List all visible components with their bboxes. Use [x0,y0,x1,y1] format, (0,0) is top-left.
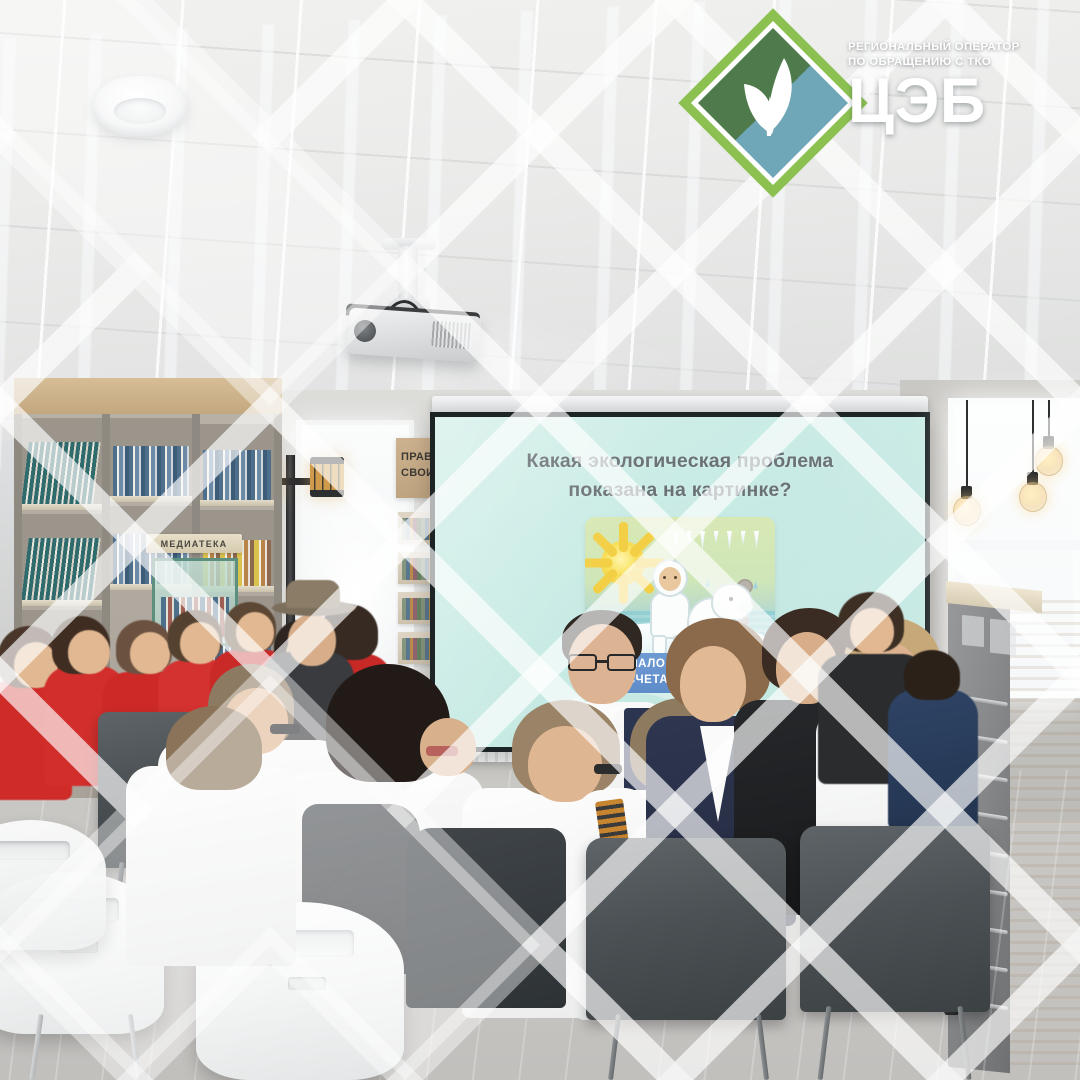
foosball-label [990,619,1016,656]
logo-line1: РЕГИОНАЛЬНЫЙ ОПЕРАТОР [848,40,1056,55]
head [236,612,274,652]
sun-ray [591,531,619,559]
icicle [700,531,705,551]
head [288,614,336,666]
bookcase-shelf [200,500,274,506]
logo-text-block: РЕГИОНАЛЬНЫЙ ОПЕРАТОР ПО ОБРАЩЕНИЮ С ТКО… [848,40,1056,132]
chair-white-3[interactable] [0,820,106,950]
slide-title: Какая экологическая проблема показана на… [435,447,925,506]
icicle [727,531,732,550]
books-row [22,442,101,504]
head [680,646,746,722]
sun-ray [619,574,628,604]
photo-canvas: ПРАВО СВОИ МЕДИАТЕКА [0,0,1080,1080]
sun-icon [601,541,645,585]
sweat-drop [705,579,710,587]
sun-ray [619,522,628,552]
icicle [741,531,746,545]
magazines-row [203,450,271,500]
glasses-icon [270,724,300,734]
slide-title-line1: Какая экологическая проблема [457,447,903,476]
bookcase-top-panel [14,378,282,414]
sun-ray [591,568,619,596]
pendant-bulb-icon [953,496,981,526]
sweat-drop [753,581,758,589]
chair-brand-badge [288,977,326,990]
bear-eye [729,597,733,601]
pendant-bulb-icon [1035,446,1063,476]
lamp-head-right [310,457,344,497]
pendant-bulb-icon [1019,482,1047,512]
bookcase-shelf [110,496,192,502]
glasses-icon [568,654,636,671]
foosball-label [962,615,984,647]
magazines-row [113,446,189,496]
hair [166,706,262,790]
slide-title-line2: показана на картинке? [457,476,903,505]
chair-dark-front-1[interactable] [586,838,786,1020]
bookcase-cell [110,418,192,502]
icicle [673,531,678,551]
bookcase-cell [22,418,102,510]
glasses-icon [594,764,622,774]
brand-logo: РЕГИОНАЛЬНЫЙ ОПЕРАТОР ПО ОБРАЩЕНИЮ С ТКО… [706,28,1056,178]
right-window-mullion [948,540,1080,550]
bookcase-cell [200,424,274,506]
pendant-cord [1048,400,1050,440]
pendant-cord [1032,400,1034,476]
bookcase-shelf [22,504,102,510]
icicles-group [673,531,759,553]
hair [904,650,960,700]
torso [126,766,296,966]
head [850,608,894,654]
logo-brand-name: ЦЭБ [848,72,1056,132]
mediateka-sign: МЕДИАТЕКА [146,534,242,553]
bear-snout [737,601,753,613]
books-row [22,538,101,600]
head [180,622,220,664]
sun-ray [585,559,612,568]
icicle [687,531,692,546]
chair-dark-front-2[interactable] [800,826,990,1012]
projector-mount-pole [398,246,418,304]
hat-crown [286,580,340,608]
child-face [659,567,681,591]
leaf-icon [706,28,840,162]
projector-vent [431,321,473,350]
glasses-icon [426,746,458,756]
sun-ray [628,531,656,559]
icicle [714,531,719,544]
bookcase-cell [22,514,102,606]
icicle [754,531,759,549]
pendant-cord [966,400,968,492]
mediateka-sign-label: МЕДИАТЕКА [161,539,228,549]
head [528,726,602,802]
head [68,630,110,674]
person-foreground-dark-jacket [406,828,566,1008]
smoke-detector-icon [92,76,188,136]
bookcase-shelf [22,600,102,606]
torso [888,690,978,830]
